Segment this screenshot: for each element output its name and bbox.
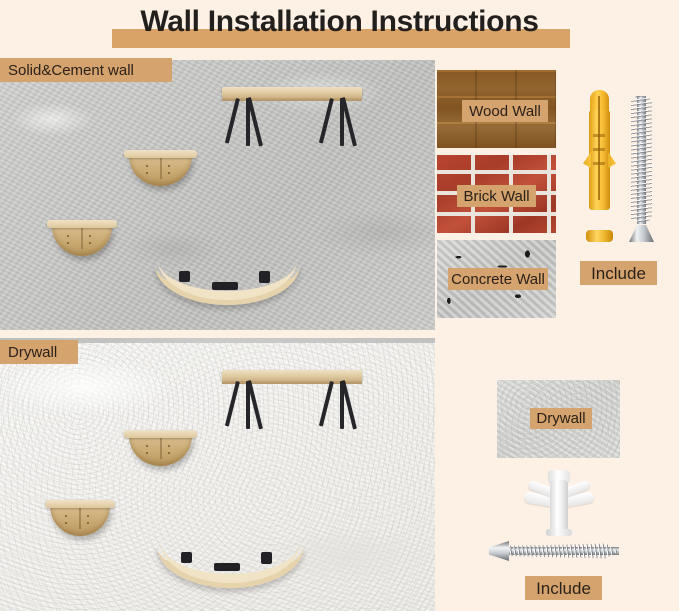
shelf-board [222, 87, 362, 98]
half-round-perch-lower [45, 500, 115, 538]
perch-seam [160, 157, 162, 179]
hammock-mount-center [212, 282, 238, 290]
page-title: Wall Installation Instructions [0, 2, 679, 42]
half-round-perch-upper [124, 150, 197, 188]
curved-cat-hammock [155, 265, 300, 305]
label-include-bottom: Include [525, 576, 602, 600]
perch-seam [81, 227, 83, 249]
hammock-mount-right [261, 552, 272, 564]
infographic-page: Wall Installation Instructions [0, 0, 679, 611]
half-round-perch-upper [124, 430, 197, 468]
label-include-top: Include [580, 261, 657, 285]
label-brick-wall: Brick Wall [457, 185, 536, 207]
label-solid-cement-wall: Solid&Cement wall [0, 58, 172, 82]
label-concrete-wall: Concrete Wall [448, 268, 548, 290]
wall-shelf-with-brackets [222, 370, 362, 382]
hammock-mount-right [259, 271, 270, 283]
label-drywall-swatch: Drywall [530, 408, 592, 429]
perch-top-board [124, 150, 197, 158]
page-header: Wall Installation Instructions [0, 0, 679, 55]
silver-screw-icon-horizontal [489, 540, 634, 562]
shelf-board [222, 370, 362, 381]
perch-seam [79, 507, 81, 529]
yellow-wall-anchor-icon [586, 90, 613, 242]
label-wood-wall: Wood Wall [462, 100, 548, 122]
hammock-mount-center [214, 563, 240, 571]
shelf-bracket-left [236, 381, 250, 429]
photo-drywall [0, 338, 435, 611]
shelf-bracket-right [330, 98, 344, 146]
perch-top-board [45, 500, 115, 508]
silver-screw-icon [629, 90, 654, 242]
perch-seam [160, 437, 162, 459]
white-drywall-anchor-icon [524, 470, 594, 536]
hammock-mount-left [181, 552, 192, 563]
perch-top-board [124, 430, 197, 438]
label-drywall: Drywall [0, 340, 78, 364]
hammock-mount-left [179, 271, 190, 282]
half-round-perch-lower [47, 220, 117, 258]
shelf-bracket-left [236, 98, 250, 146]
photo-solid-cement-wall [0, 60, 435, 330]
curved-cat-hammock [157, 546, 304, 588]
shelf-bracket-right [330, 381, 344, 429]
perch-top-board [47, 220, 117, 228]
wall-shelf-with-brackets [222, 87, 362, 99]
